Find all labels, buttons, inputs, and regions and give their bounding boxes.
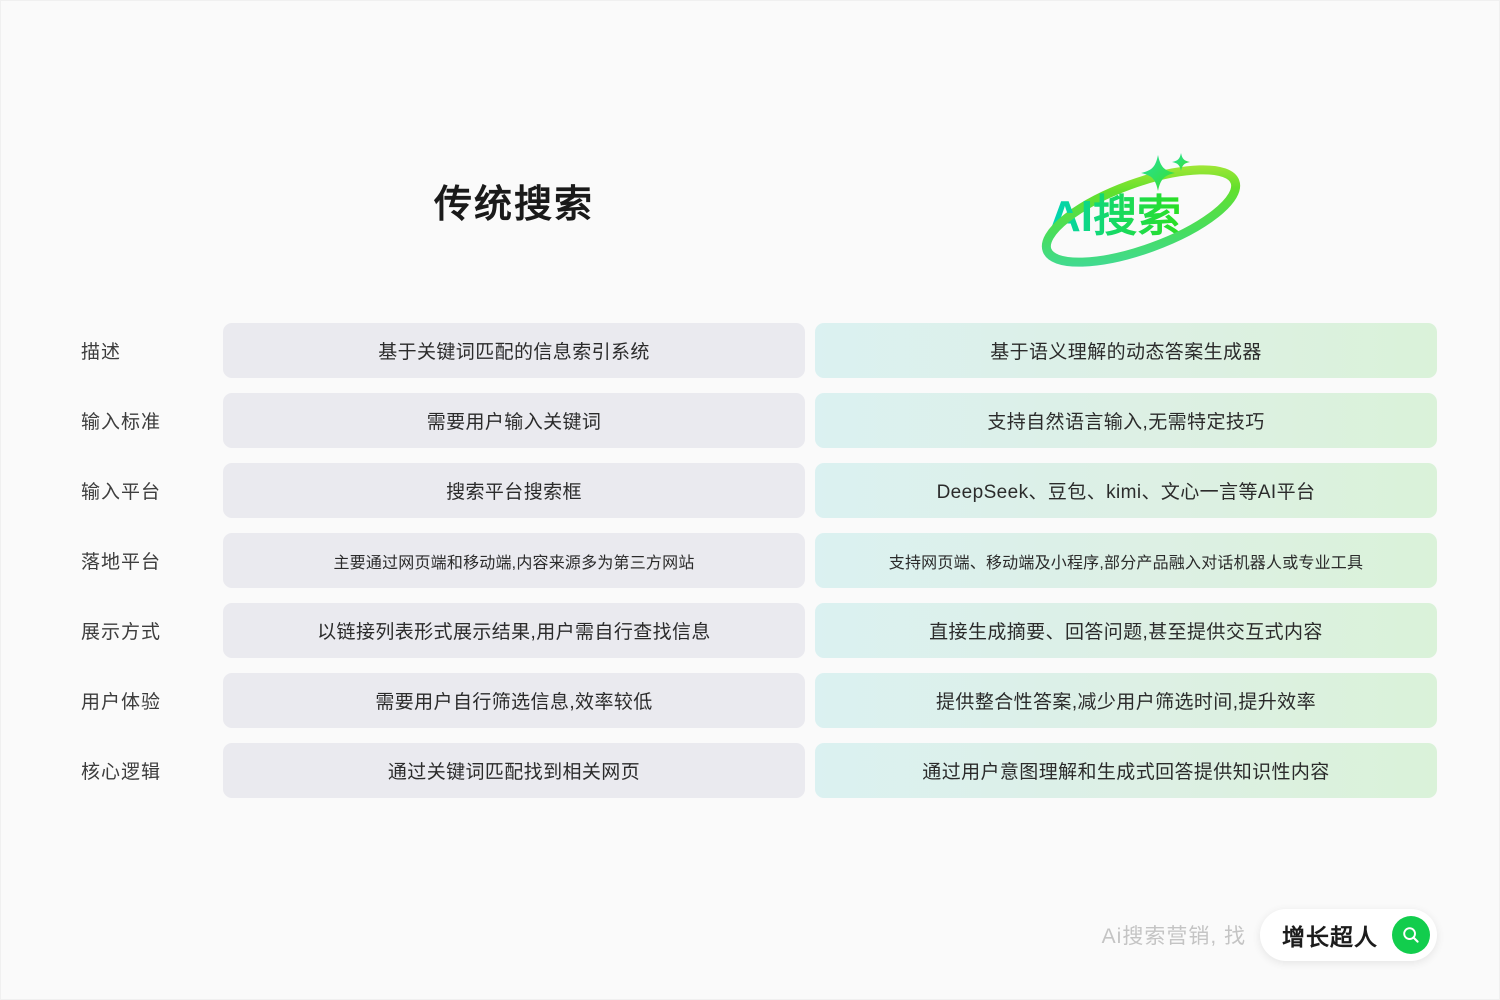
ai-cell-3: 支持网页端、移动端及小程序,部分产品融入对话机器人或专业工具 bbox=[815, 533, 1437, 588]
ai-cell-4: 直接生成摘要、回答问题,甚至提供交互式内容 bbox=[815, 603, 1437, 658]
table-row: 展示方式以链接列表形式展示结果,用户需自行查找信息直接生成摘要、回答问题,甚至提… bbox=[1, 603, 1500, 658]
row-label-2: 输入平台 bbox=[81, 463, 211, 518]
brand-pill[interactable]: 增长超人 bbox=[1260, 909, 1437, 961]
slide-canvas: 传统搜索 bbox=[0, 0, 1500, 1000]
sparkle-icon-large bbox=[1141, 155, 1175, 191]
table-row: 用户体验需要用户自行筛选信息,效率较低提供整合性答案,减少用户筛选时间,提升效率 bbox=[1, 673, 1500, 728]
ai-cell-1: 支持自然语言输入,无需特定技巧 bbox=[815, 393, 1437, 448]
ai-cell-5: 提供整合性答案,减少用户筛选时间,提升效率 bbox=[815, 673, 1437, 728]
brand-name: 增长超人 bbox=[1282, 918, 1378, 952]
row-label-4: 展示方式 bbox=[81, 603, 211, 658]
table-row: 输入标准需要用户输入关键词支持自然语言输入,无需特定技巧 bbox=[1, 393, 1500, 448]
traditional-cell-4: 以链接列表形式展示结果,用户需自行查找信息 bbox=[223, 603, 805, 658]
ai-cell-2: DeepSeek、豆包、kimi、文心一言等AI平台 bbox=[815, 463, 1437, 518]
ai-search-logo: AI搜索 bbox=[1021, 141, 1261, 281]
row-label-1: 输入标准 bbox=[81, 393, 211, 448]
table-row: 核心逻辑通过关键词匹配找到相关网页通过用户意图理解和生成式回答提供知识性内容 bbox=[1, 743, 1500, 798]
traditional-search-title: 传统搜索 bbox=[223, 173, 805, 228]
traditional-cell-3: 主要通过网页端和移动端,内容来源多为第三方网站 bbox=[223, 533, 805, 588]
column-headings: 传统搜索 bbox=[1, 141, 1500, 281]
footer-watermark: Ai搜索营销, 找 增长超人 bbox=[1102, 909, 1437, 961]
watermark-tagline: Ai搜索营销, 找 bbox=[1102, 920, 1246, 950]
traditional-cell-5: 需要用户自行筛选信息,效率较低 bbox=[223, 673, 805, 728]
traditional-cell-1: 需要用户输入关键词 bbox=[223, 393, 805, 448]
table-row: 输入平台搜索平台搜索框DeepSeek、豆包、kimi、文心一言等AI平台 bbox=[1, 463, 1500, 518]
traditional-cell-0: 基于关键词匹配的信息索引系统 bbox=[223, 323, 805, 378]
traditional-cell-6: 通过关键词匹配找到相关网页 bbox=[223, 743, 805, 798]
row-label-5: 用户体验 bbox=[81, 673, 211, 728]
row-label-6: 核心逻辑 bbox=[81, 743, 211, 798]
row-label-3: 落地平台 bbox=[81, 533, 211, 588]
row-label-0: 描述 bbox=[81, 323, 211, 378]
table-row: 描述基于关键词匹配的信息索引系统基于语义理解的动态答案生成器 bbox=[1, 323, 1500, 378]
ai-search-logo-graphic: AI搜索 bbox=[1021, 141, 1261, 281]
table-row: 落地平台主要通过网页端和移动端,内容来源多为第三方网站支持网页端、移动端及小程序… bbox=[1, 533, 1500, 588]
traditional-cell-2: 搜索平台搜索框 bbox=[223, 463, 805, 518]
comparison-table: 描述基于关键词匹配的信息索引系统基于语义理解的动态答案生成器输入标准需要用户输入… bbox=[1, 323, 1500, 813]
search-icon[interactable] bbox=[1392, 916, 1430, 954]
ai-cell-0: 基于语义理解的动态答案生成器 bbox=[815, 323, 1437, 378]
ai-cell-6: 通过用户意图理解和生成式回答提供知识性内容 bbox=[815, 743, 1437, 798]
